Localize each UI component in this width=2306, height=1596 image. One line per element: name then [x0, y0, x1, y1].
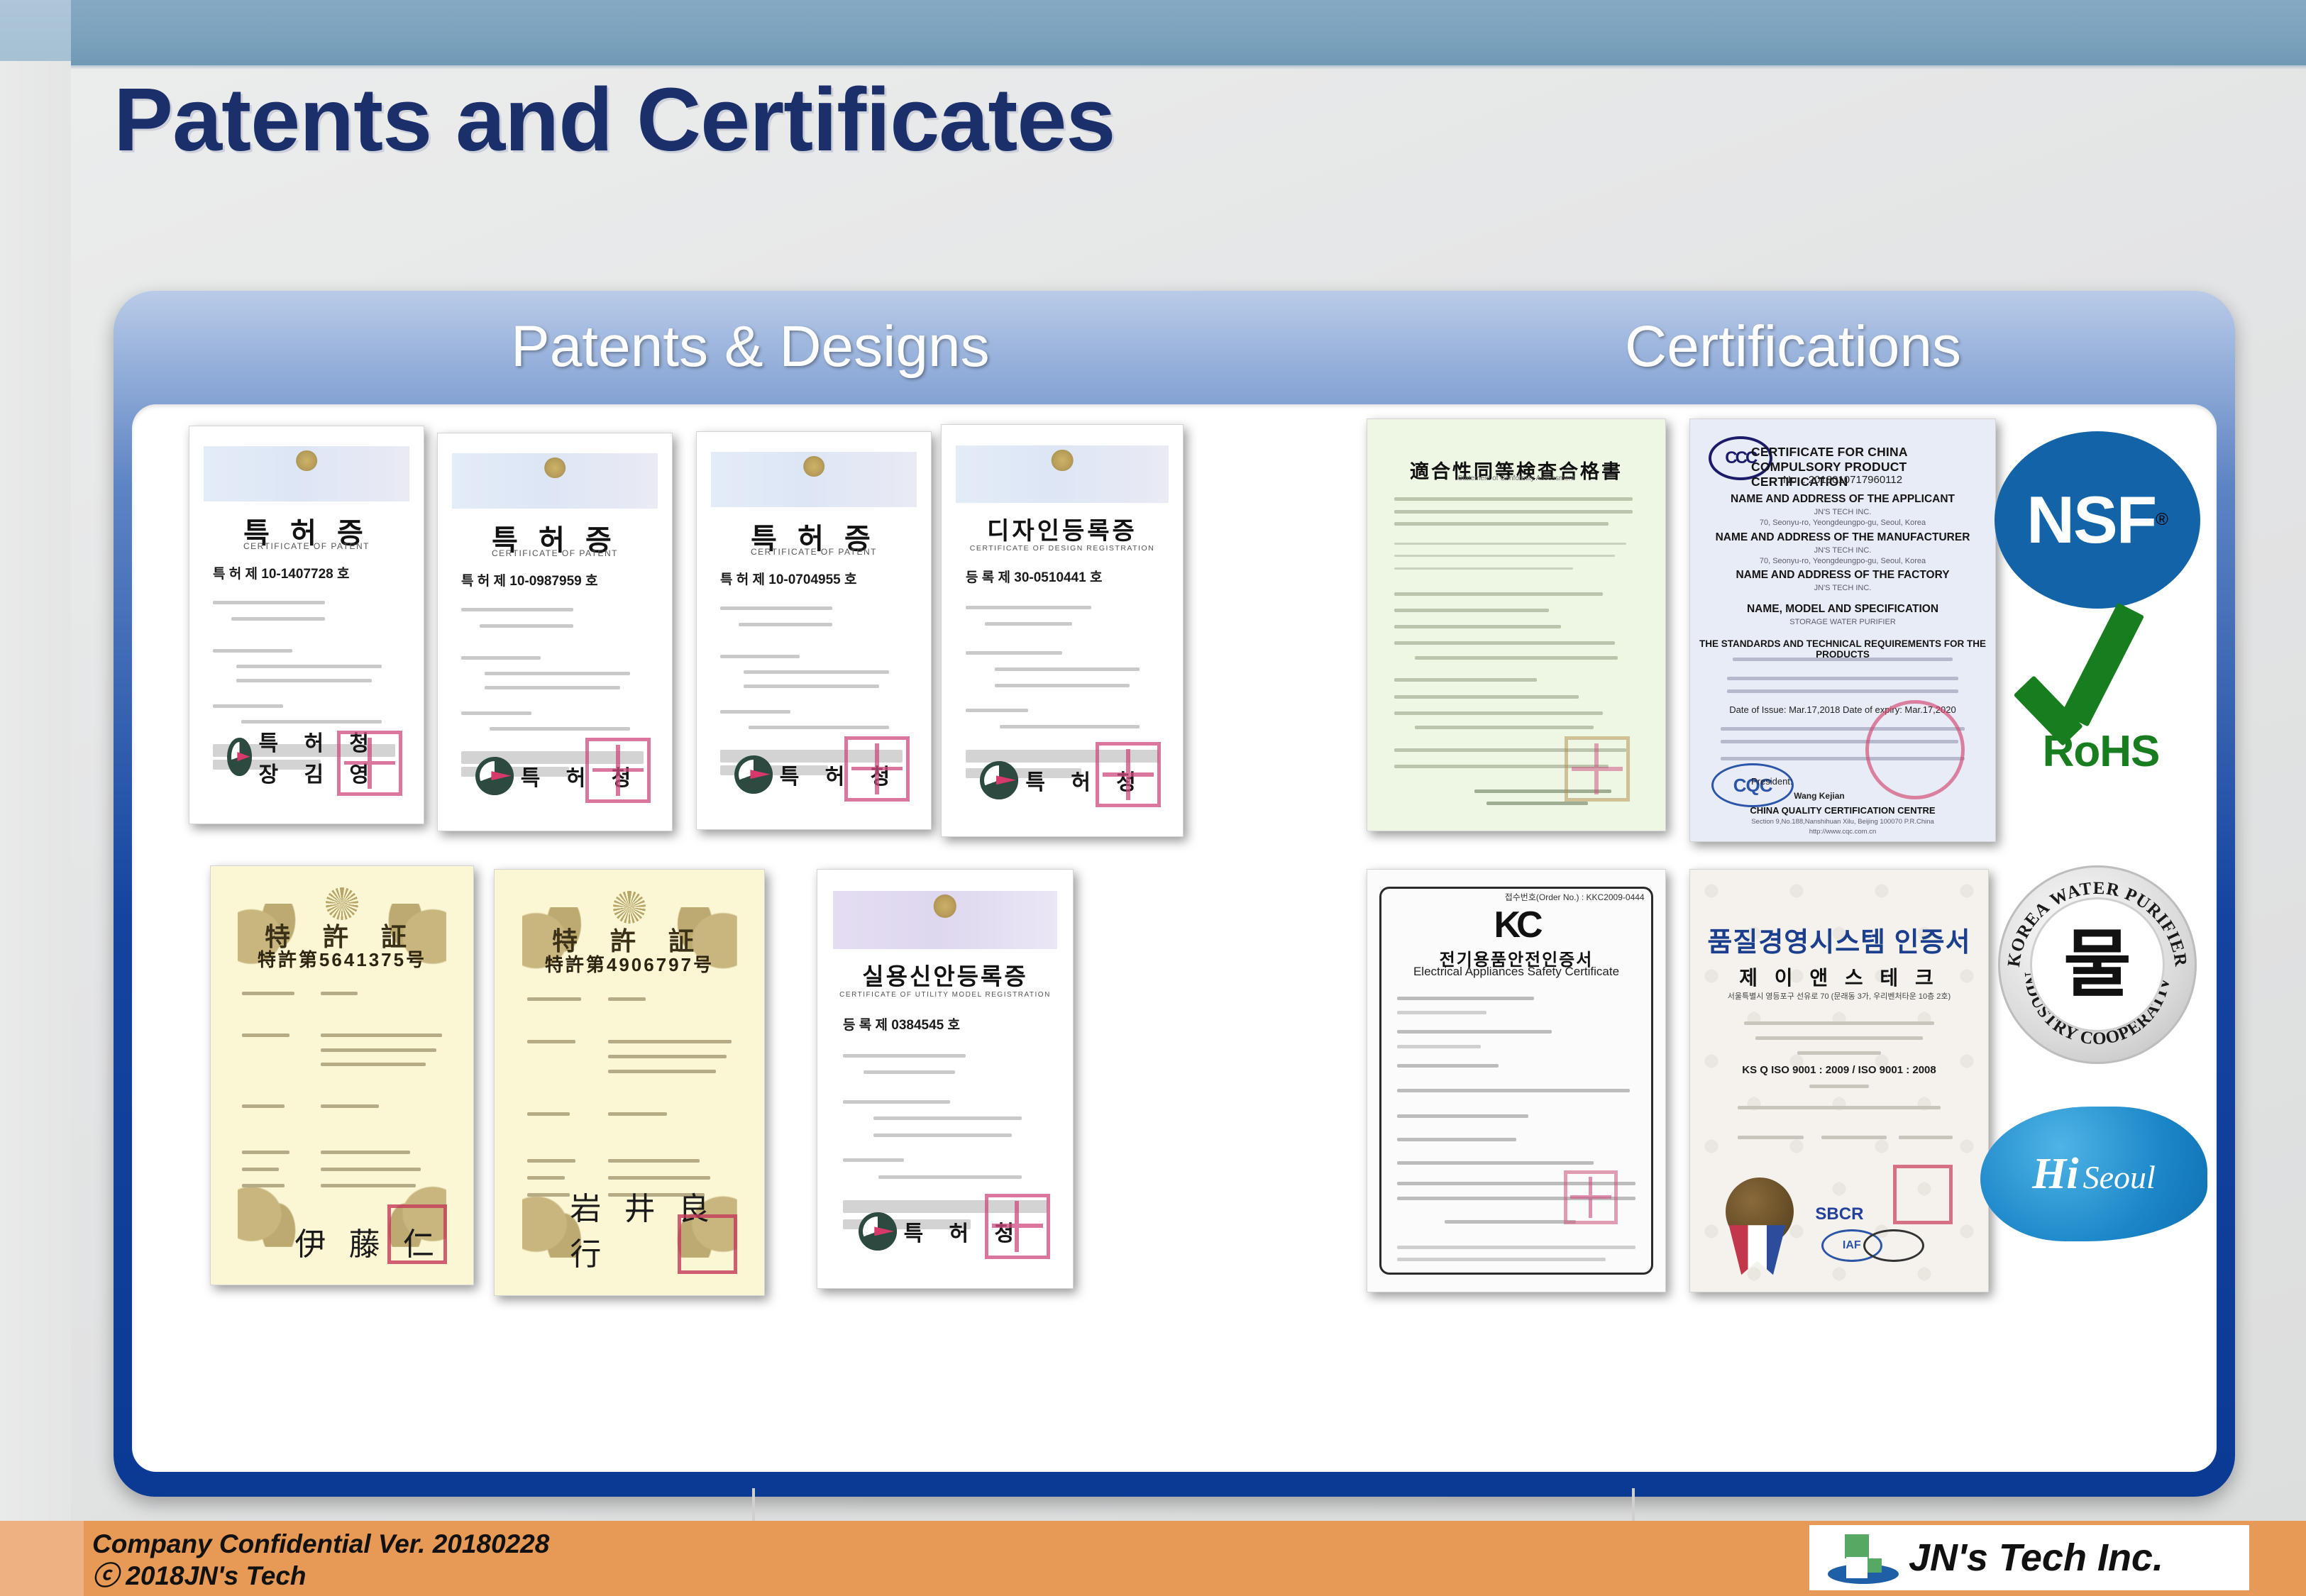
- official-seal-icon: [1893, 1165, 1953, 1224]
- factory-name: JN'S TECH INC.: [1690, 584, 1995, 592]
- manufacturer-name: JN'S TECH INC.: [1690, 546, 1995, 555]
- doc-subtitle: CERTIFICATE OF PATENT: [697, 547, 931, 557]
- kc-safety-certificate[interactable]: 접수번호(Order No.) : KKC2009-0444 KC 전기용품안전…: [1367, 869, 1666, 1292]
- doc-subtitle: Electrical Appliances Safety Certificate: [1367, 965, 1665, 979]
- doc-number: 特許第5641375号: [211, 946, 473, 972]
- doc-subtitle: CERTIFICATE OF DESIGN REGISTRATION: [942, 544, 1183, 553]
- kab-logo-icon: [1863, 1229, 1924, 1262]
- iso-quality-certificate[interactable]: 품질경영시스템 인증서 제 이 앤 스 테 크 서울특별시 영등포구 선유로 7…: [1689, 869, 1989, 1292]
- official-seal-icon: [844, 736, 910, 802]
- panel-header-patents: Patents & Designs: [511, 314, 990, 380]
- kipo-emblem-icon: [1052, 450, 1074, 472]
- korea-water-purifier-seal: KOREA WATER PURIFIER INDUSTRY COOPERATIV…: [1998, 865, 2197, 1064]
- doc-number: 특 허 제 10-0704955 호: [720, 569, 856, 588]
- applicant-name: JN'S TECH INC.: [1690, 508, 1995, 516]
- panel-header: Patents & Designs Certifications: [114, 291, 2235, 397]
- page-title: Patents and Certificates: [114, 68, 1115, 171]
- jp-conformity-certificate[interactable]: 適合性同等検査合格書 Statement of Conformity Asses…: [1367, 419, 1666, 831]
- rohs-label: RoHS: [2005, 726, 2197, 777]
- footer-line-1: Company Confidential Ver. 20180228: [92, 1528, 549, 1560]
- official-seal-icon: [337, 731, 402, 796]
- official-seal-icon: [1096, 742, 1161, 807]
- patent-certificate-1[interactable]: 특 허 증 CERTIFICATE OF PATENT 특 허 제 10-140…: [189, 426, 424, 824]
- utility-model-certificate[interactable]: 실용신안등록증 CERTIFICATE OF UTILITY MODEL REG…: [817, 869, 1074, 1289]
- registered-mark: ®: [2156, 510, 2168, 530]
- hi-seoul-logo: HiSeoul: [1980, 1107, 2207, 1241]
- company-address: 서울특별시 영등포구 선유로 70 (문래동 3가, 우리벤처타운 10층 2호…: [1690, 990, 1988, 1002]
- certification-body: CHINA QUALITY CERTIFICATION CENTRE: [1690, 805, 1995, 816]
- patent-certificate-2[interactable]: 특 허 증 CERTIFICATE OF PATENT 특 허 제 10-098…: [437, 433, 673, 831]
- ccc-certificate[interactable]: CCC CERTIFICATE FOR CHINA COMPULSORY PRO…: [1689, 419, 1996, 842]
- company-logo-text: JN's Tech Inc.: [1909, 1536, 2163, 1580]
- company-logo: JN's Tech Inc.: [1809, 1525, 2249, 1590]
- water-glyph: 물: [2063, 928, 2131, 1002]
- kipo-emblem-icon: [544, 458, 566, 479]
- doc-subtitle: CERTIFICATE OF PATENT: [189, 541, 424, 551]
- company-name: 제 이 앤 스 테 크: [1690, 963, 1988, 991]
- design-registration-certificate[interactable]: 디자인등록증 CERTIFICATE OF DESIGN REGISTRATIO…: [941, 424, 1184, 837]
- footer-left-accent: [0, 1521, 84, 1596]
- content-panel: Patents & Designs Certifications 특 허 증 C…: [114, 291, 2235, 1497]
- nsf-logo: NSF®: [1995, 431, 2200, 609]
- header-band-left-accent: [0, 0, 71, 61]
- official-seal-icon: [678, 1214, 737, 1274]
- sbcr-logo: SBCR: [1815, 1204, 1863, 1224]
- header-band: [71, 0, 2306, 65]
- section-model: NAME, MODEL AND SPECIFICATION: [1690, 603, 1995, 616]
- official-seal-icon: [585, 738, 651, 803]
- footer: Company Confidential Ver. 20180228 ⓒ 201…: [0, 1521, 2306, 1596]
- official-seal-icon: [985, 1194, 1050, 1259]
- kipo-emblem-icon: [803, 456, 824, 477]
- hi-seoul-label: HiSeoul: [2032, 1149, 2156, 1199]
- cert-number: No. : 2018010717960112: [1690, 474, 1995, 486]
- doc-number: 등 록 제 0384545 호: [843, 1014, 960, 1033]
- order-number: 접수번호(Order No.) : KKC2009-0444: [1505, 891, 1645, 903]
- panel-body: 특 허 증 CERTIFICATE OF PATENT 특 허 제 10-140…: [132, 404, 2217, 1472]
- standard-label: KS Q ISO 9001 : 2009 / ISO 9001 : 2008: [1690, 1064, 1988, 1076]
- japanese-patent-certificate-1[interactable]: 特 許 証 特許第5641375号 伊 藤 仁: [210, 865, 474, 1285]
- seoul-text: Seoul: [2083, 1159, 2156, 1195]
- chrysanthemum-crest-icon: [326, 887, 358, 920]
- left-rail: [0, 61, 71, 1521]
- doc-subtitle: CERTIFICATE OF UTILITY MODEL REGISTRATIO…: [817, 991, 1073, 999]
- hi-text: Hi: [2032, 1150, 2078, 1198]
- jns-tech-mark-icon: [1828, 1533, 1899, 1583]
- doc-number: 등 록 제 30-0510441 호: [966, 567, 1102, 586]
- checkmark-icon: [2019, 631, 2183, 724]
- official-seal-icon: [387, 1204, 447, 1264]
- footer-divider-left: [752, 1488, 755, 1521]
- section-manufacturer: NAME AND ADDRESS OF THE MANUFACTURER: [1690, 531, 1995, 544]
- doc-title: 품질경영시스템 인증서: [1690, 920, 1988, 959]
- certification-body-address: Section 9,No.188,Nanshihuan Xilu, Beijin…: [1690, 818, 1995, 826]
- japanese-patent-certificate-2[interactable]: 特 許 証 特許第4906797号 岩 井 良 行: [494, 869, 765, 1296]
- applicant-address: 70, Seonyu-ro, Yeongdeungpo-gu, Seoul, K…: [1690, 519, 1995, 527]
- doc-number: 특 허 제 10-0987959 호: [461, 570, 597, 589]
- chrysanthemum-crest-icon: [613, 891, 646, 924]
- doc-subtitle: Statement of Conformity Assessment: [1367, 475, 1665, 482]
- footer-divider-right: [1632, 1488, 1635, 1521]
- section-standards: THE STANDARDS AND TECHNICAL REQUIREMENTS…: [1690, 638, 1995, 660]
- section-factory: NAME AND ADDRESS OF THE FACTORY: [1690, 569, 1995, 582]
- cert-dates: Date of Issue: Mar.17,2018 Date of expir…: [1690, 704, 1995, 715]
- president-label: President:: [1751, 776, 1793, 787]
- official-round-seal-icon: [1865, 700, 1965, 799]
- product-name: STORAGE WATER PURIFIER: [1690, 618, 1995, 626]
- footer-line-2: ⓒ 2018JN's Tech: [92, 1560, 549, 1592]
- doc-number: 特許第4906797号: [495, 951, 764, 977]
- official-seal-icon: [1565, 736, 1630, 802]
- doc-subtitle: CERTIFICATE OF PATENT: [438, 548, 672, 558]
- panel-header-certifications: Certifications: [1625, 314, 1961, 380]
- nsf-label: NSF: [2026, 482, 2156, 558]
- doc-number: 특 허 제 10-1407728 호: [213, 563, 349, 582]
- president-name: Wang Kejian: [1794, 791, 1845, 801]
- footer-text: Company Confidential Ver. 20180228 ⓒ 201…: [92, 1528, 549, 1592]
- doc-title: 실용신안등록증: [817, 958, 1073, 992]
- seal-inner-ring: 물: [2030, 897, 2165, 1032]
- patent-certificate-3[interactable]: 특 허 증 CERTIFICATE OF PATENT 특 허 제 10-070…: [696, 431, 932, 830]
- manufacturer-address: 70, Seonyu-ro, Yeongdeungpo-gu, Seoul, K…: [1690, 557, 1995, 565]
- slide-root: Patents and Certificates Patents & Desig…: [0, 0, 2306, 1596]
- doc-title: 디자인등록증: [942, 511, 1183, 546]
- rohs-logo: RoHS: [2005, 631, 2197, 777]
- certification-body-url: http://www.cqc.com.cn: [1690, 828, 1995, 836]
- kipo-emblem-icon: [296, 450, 317, 472]
- official-seal-icon: [1564, 1170, 1618, 1224]
- kc-mark-icon: KC: [1494, 904, 1538, 946]
- section-applicant: NAME AND ADDRESS OF THE APPLICANT: [1690, 493, 1995, 506]
